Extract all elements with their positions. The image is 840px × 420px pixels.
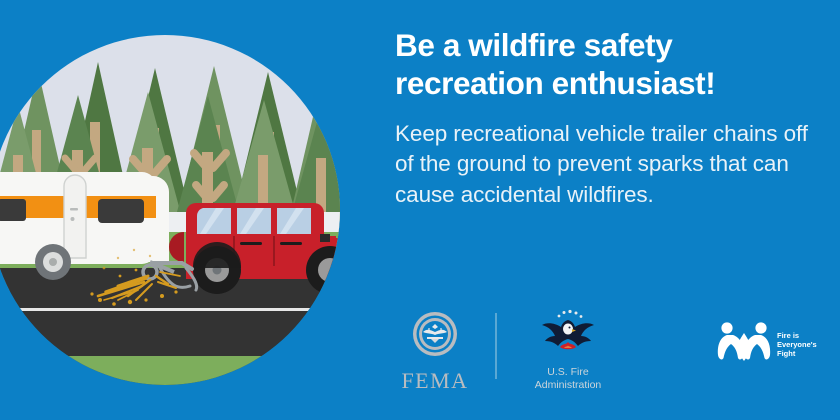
usfa-eagle-icon [537, 307, 599, 359]
dhs-seal-icon [411, 310, 459, 358]
illustration-rv-trailer-sparks-scene [0, 0, 360, 420]
two-figures-flame-icon [715, 317, 773, 365]
fema-wordmark: FEMA [390, 368, 480, 394]
fire-is-everyones-fight-logo: Fire is Everyone's Fight [715, 317, 835, 370]
page-title: Be a wildfire safety recreation enthusia… [395, 26, 815, 103]
fema-logo: FEMA [390, 310, 480, 394]
suv-windows [197, 208, 311, 234]
scene-contents [0, 30, 360, 415]
fief-wordmark: Fire is Everyone's Fight [777, 331, 817, 358]
logo-divider [495, 313, 497, 379]
usfa-logo: U.S. Fire Administration [513, 307, 623, 392]
wildfire-safety-poster: Be a wildfire safety recreation enthusia… [0, 0, 840, 420]
usfa-wordmark: U.S. Fire Administration [513, 366, 623, 392]
grass-bottom [0, 355, 360, 415]
text-column: Be a wildfire safety recreation enthusia… [395, 26, 815, 210]
logo-row: FEMA [390, 305, 830, 405]
scene-svg [0, 0, 360, 420]
page-subtitle: Keep recreational vehicle trailer chains… [395, 119, 815, 210]
